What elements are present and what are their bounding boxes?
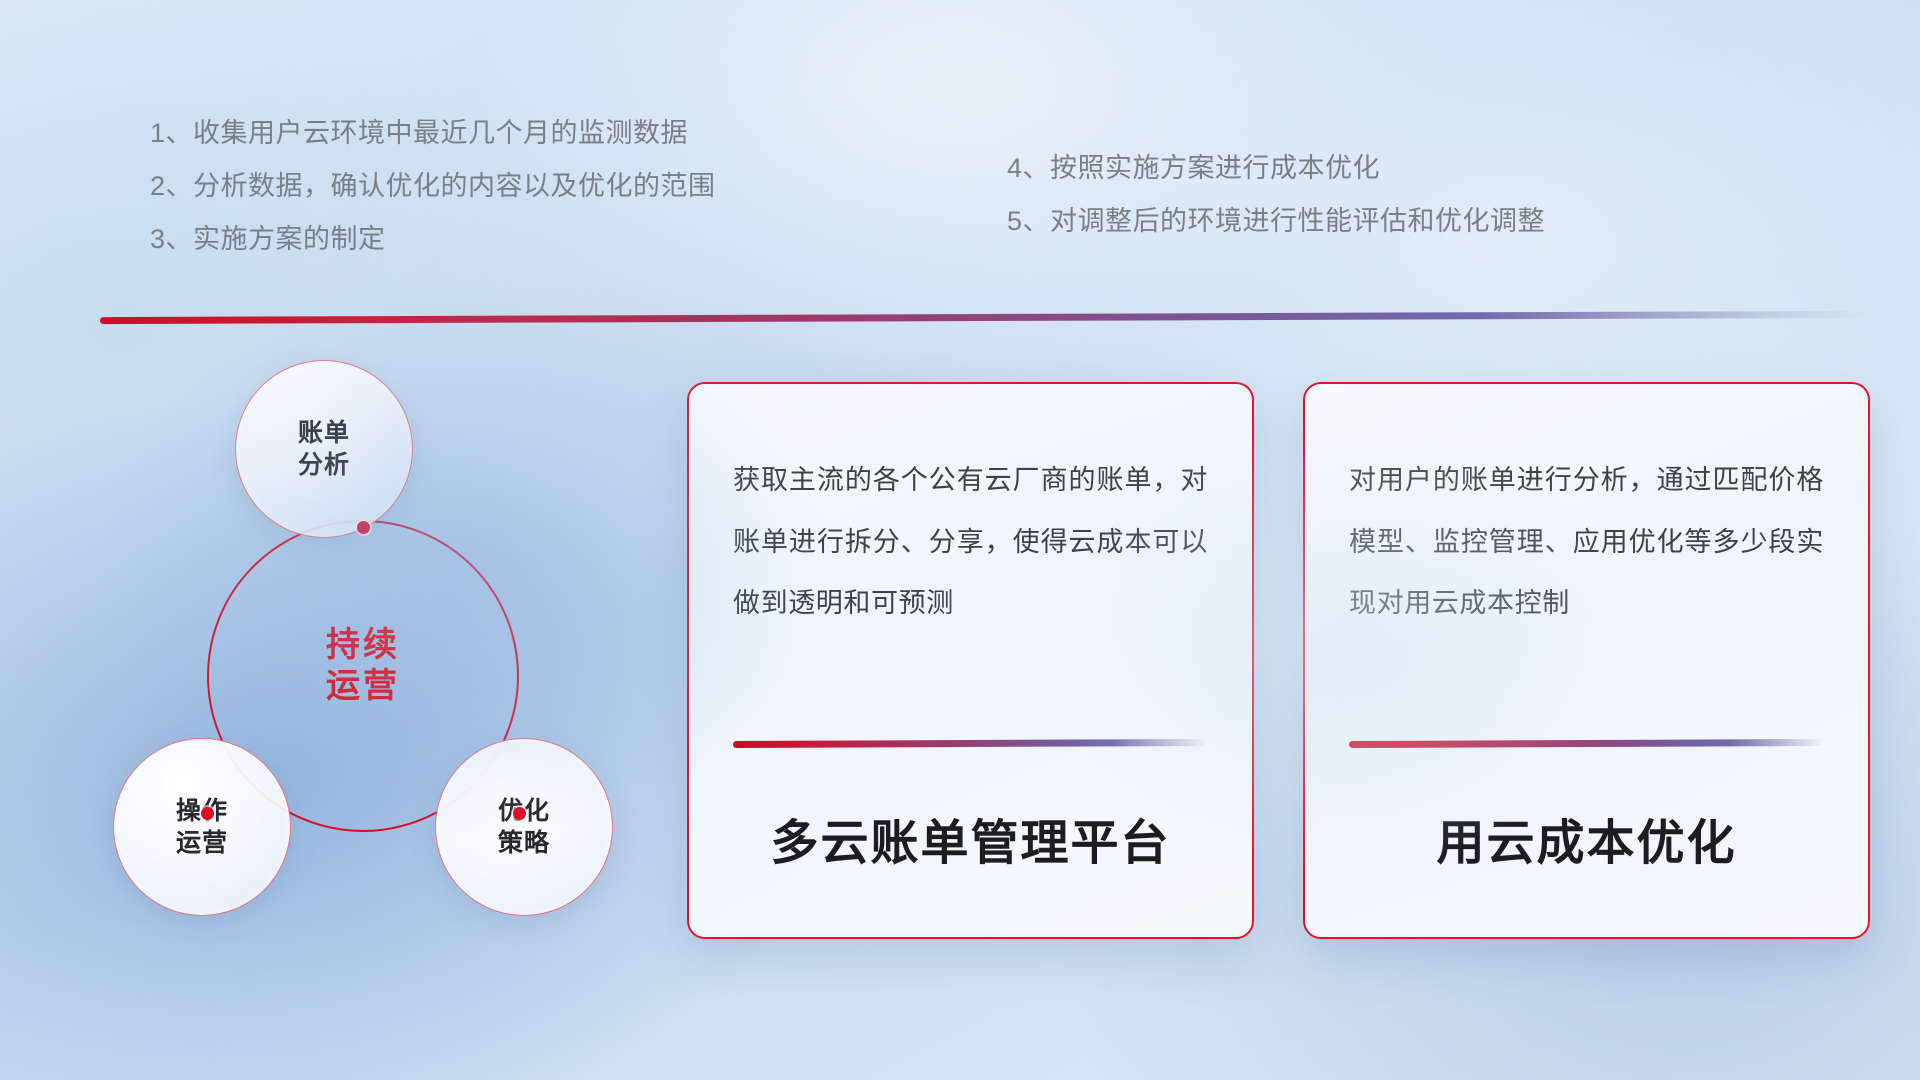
steps-list-right: 4、按照实施方案进行成本优化 5、对调整后的环境进行性能评估和优化调整 [1007,155,1545,235]
step-item: 4、按照实施方案进行成本优化 [1007,155,1545,182]
node-label-line2: 分析 [298,449,350,482]
steps-list-left: 1、收集用户云环境中最近几个月的监测数据 2、分析数据，确认优化的内容以及优化的… [150,120,716,253]
diagram-node-bill-analysis[interactable]: 账单 分析 [235,360,413,538]
node-label-line2: 策略 [498,827,550,860]
card-title: 多云账单管理平台 [733,747,1208,937]
connector-dot-top [357,521,370,534]
node-label-line1: 账单 [298,417,350,450]
diagram-node-optimization-strategy[interactable]: 优化 策略 [435,738,613,916]
node-label-line2: 运营 [176,827,228,860]
connector-dot-left [201,807,214,820]
center-label-line2: 运营 [255,666,471,707]
connector-dot-right [513,807,526,820]
feature-card-cloud-cost-optimization[interactable]: 对用户的账单进行分析，通过匹配价格模型、监控管理、应用优化等多少段实现对用云成本… [1303,382,1870,939]
step-item: 3、实施方案的制定 [150,226,716,253]
step-item: 2、分析数据，确认优化的内容以及优化的范围 [150,173,716,200]
diagram-node-operation[interactable]: 操作 运营 [113,738,291,916]
section-divider-rule [100,311,1870,324]
step-item: 5、对调整后的环境进行性能评估和优化调整 [1007,208,1545,235]
diagram-center-label: 持续 运营 [255,625,471,708]
step-item: 1、收集用户云环境中最近几个月的监测数据 [150,120,716,147]
card-description: 获取主流的各个公有云厂商的账单，对账单进行拆分、分享，使得云成本可以做到透明和可… [733,450,1208,635]
feature-card-multicloud-billing[interactable]: 获取主流的各个公有云厂商的账单，对账单进行拆分、分享，使得云成本可以做到透明和可… [687,382,1254,939]
slide-canvas: 1、收集用户云环境中最近几个月的监测数据 2、分析数据，确认优化的内容以及优化的… [0,0,1920,1080]
center-label-line1: 持续 [255,625,471,666]
card-description: 对用户的账单进行分析，通过匹配价格模型、监控管理、应用优化等多少段实现对用云成本… [1349,450,1824,635]
card-title: 用云成本优化 [1349,747,1824,937]
cycle-diagram: 账单 分析 操作 运营 优化 策略 持续 运营 [95,340,655,940]
